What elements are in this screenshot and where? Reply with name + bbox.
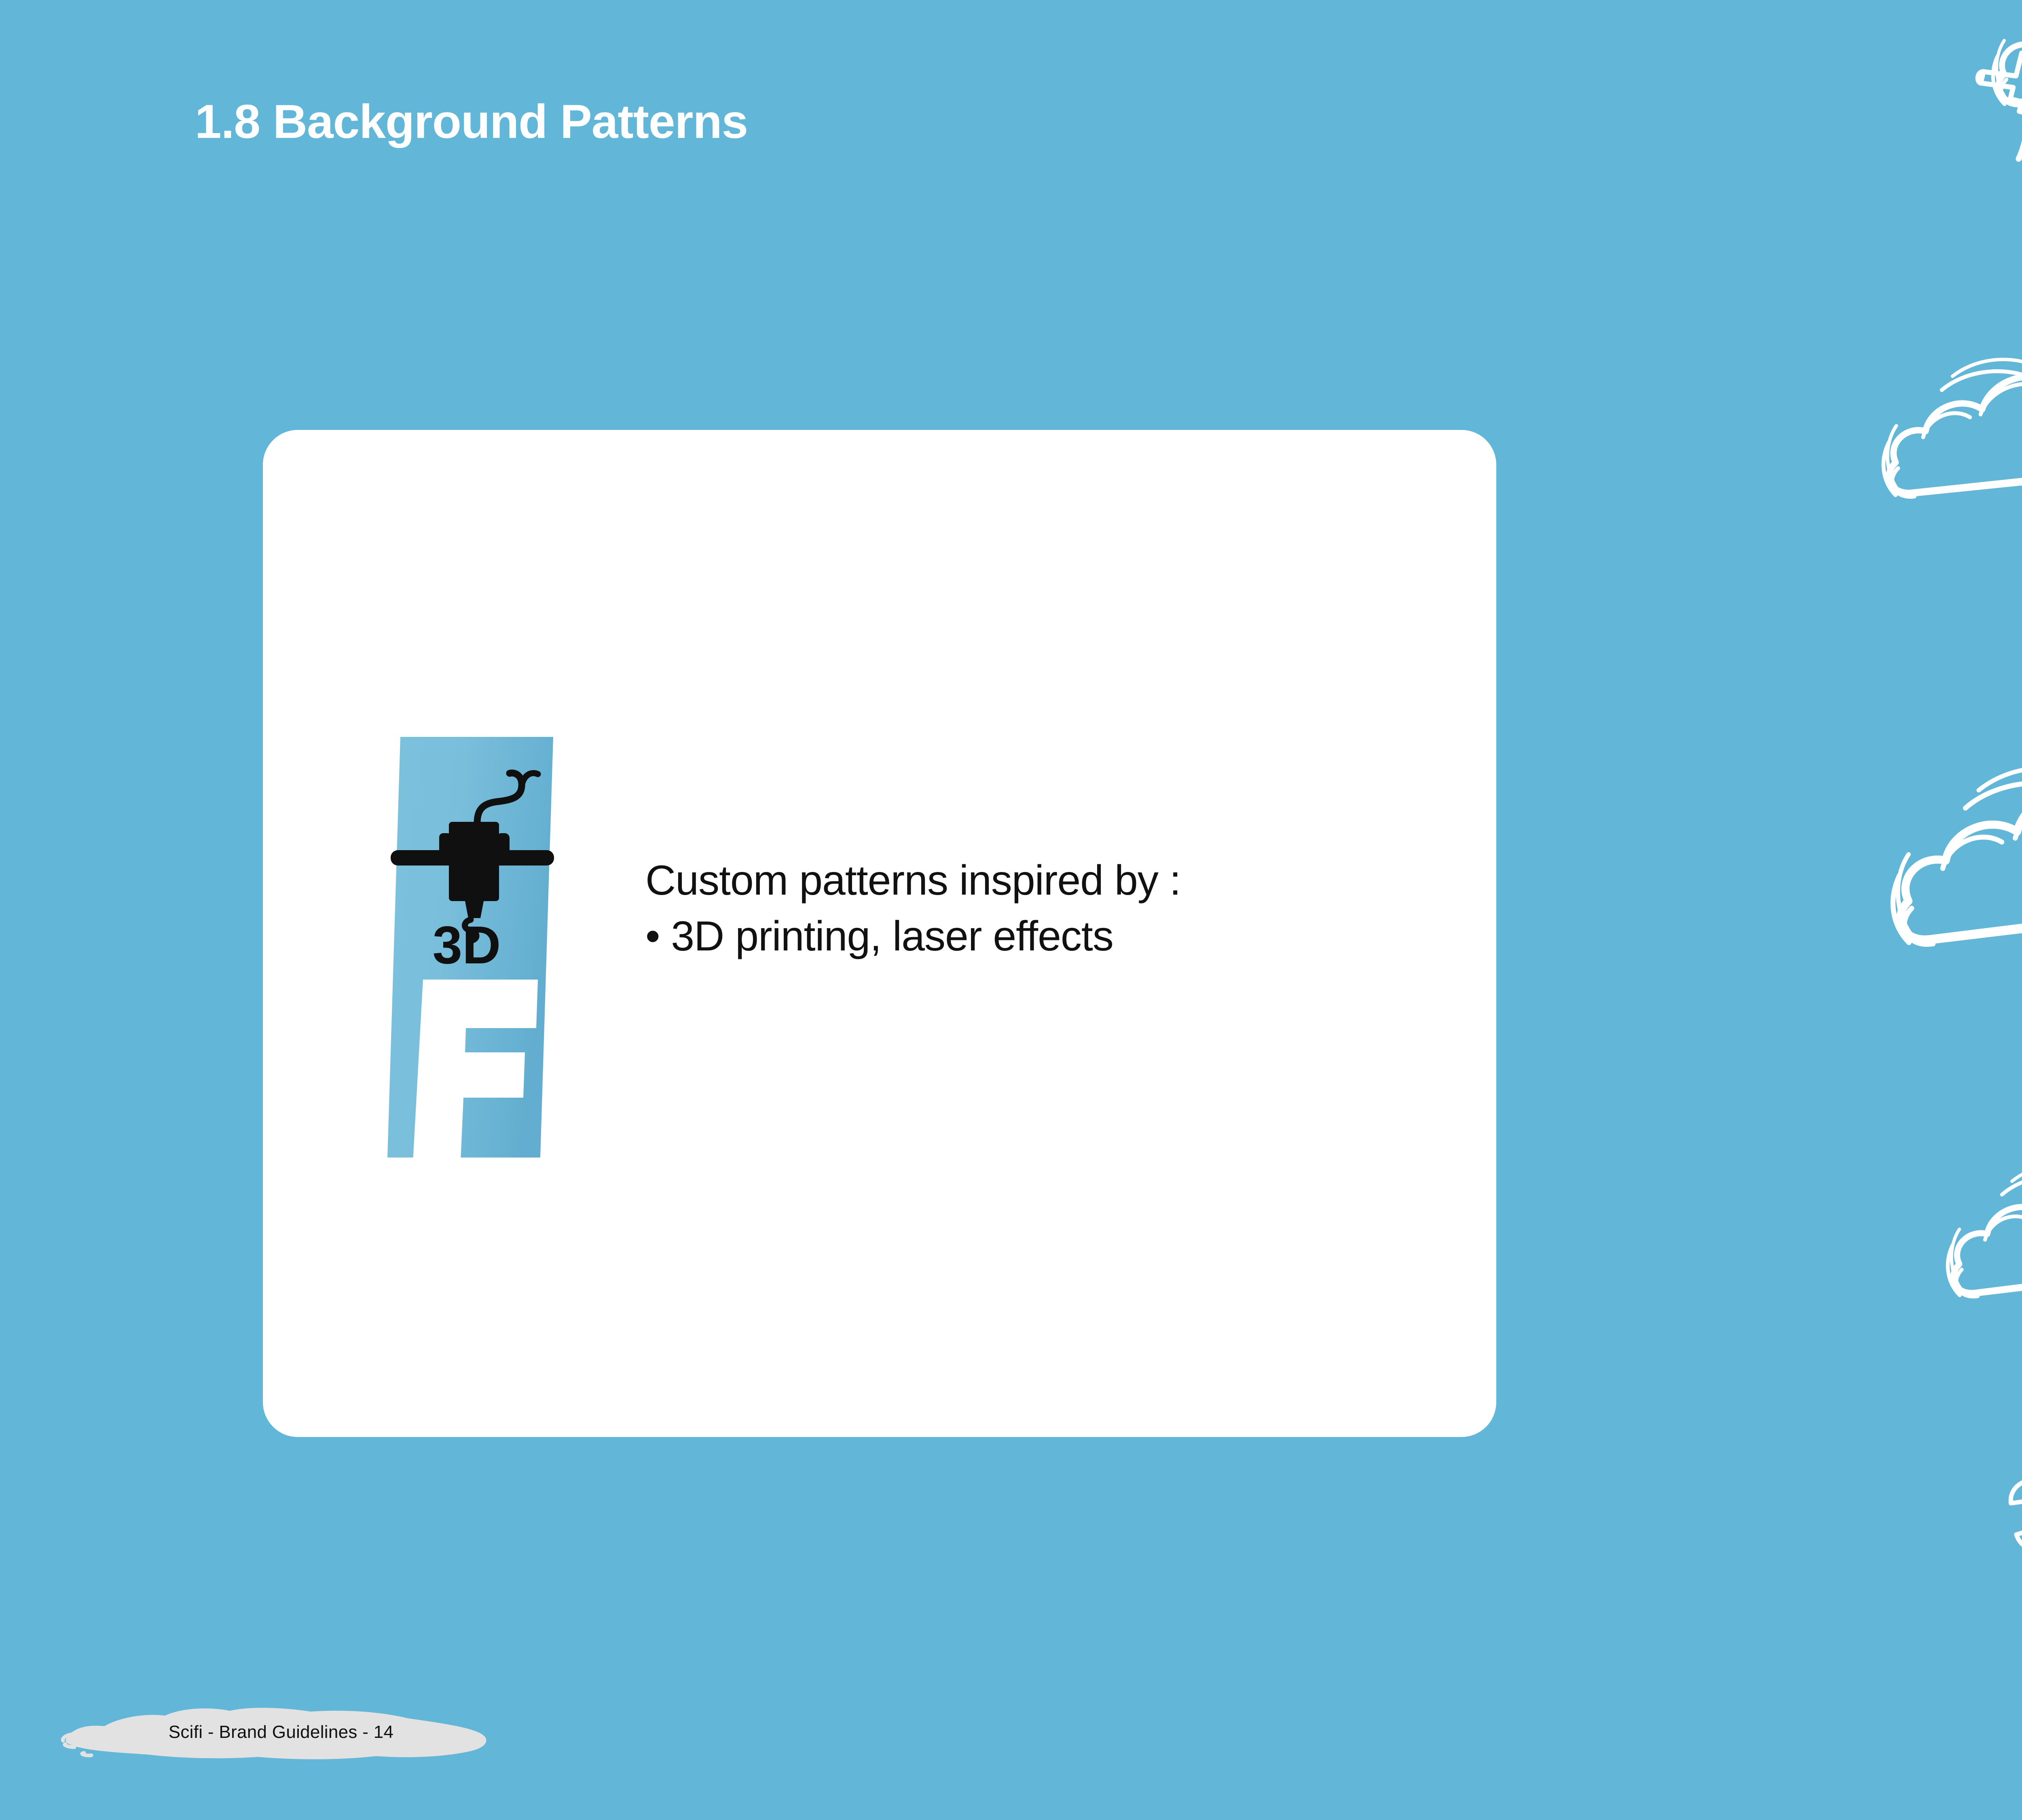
3d-letter-doodle <box>1999 1439 2022 1574</box>
cloud-doodle <box>1875 347 2022 499</box>
footer-label: Scifi - Brand Guidelines - 14 <box>61 1702 501 1763</box>
body-line-2: • 3D printing, laser effects <box>645 908 1414 964</box>
page-title: 1.8 Background Patterns <box>195 96 748 148</box>
logo-print-head <box>449 822 499 901</box>
body-line-1: Custom patterns inspired by : <box>645 853 1414 908</box>
slide-canvas: 3D F <box>0 0 2022 1820</box>
footer: Scifi - Brand Guidelines - 14 <box>61 1702 501 1763</box>
cloud-doodle <box>1880 749 2022 948</box>
cloud-doodle <box>1938 1150 2022 1299</box>
background-pattern: 3D F <box>1868 0 2022 1820</box>
brand-logo: 3D <box>379 729 569 1166</box>
printer-head-doodle <box>1961 0 2022 174</box>
cloud-doodle <box>1984 0 2022 108</box>
card-body-text: Custom patterns inspired by : • 3D print… <box>645 853 1414 965</box>
